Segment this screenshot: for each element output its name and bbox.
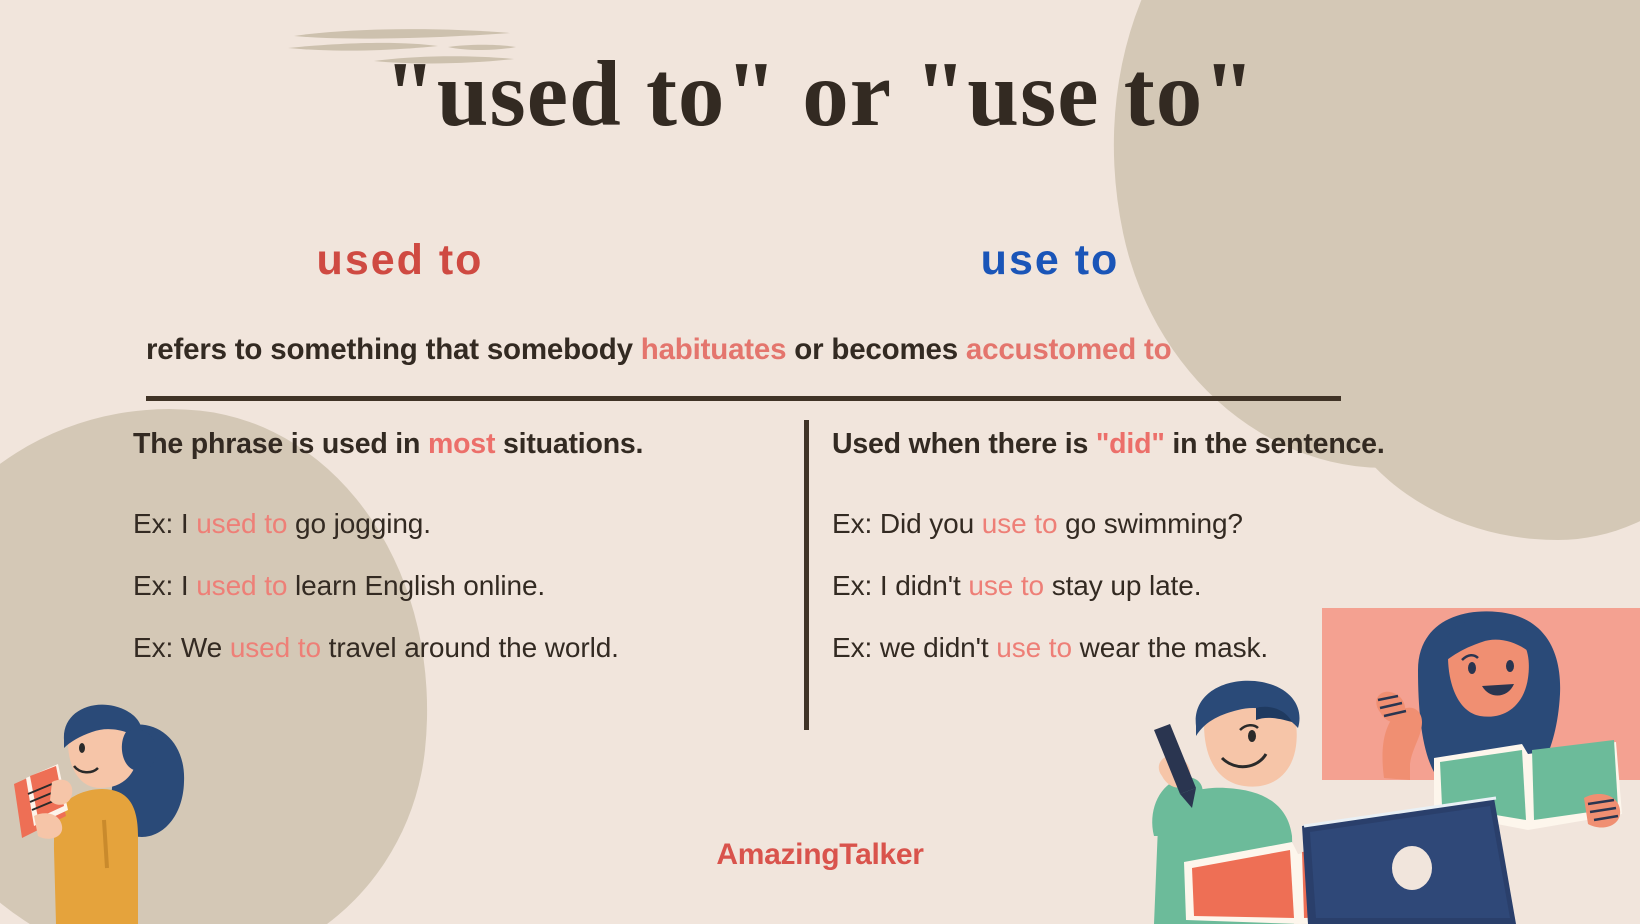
boy-with-laptop-icon: [1096, 676, 1516, 924]
column-header-use-to: use to: [830, 236, 1270, 285]
example-right-3-highlight: use to: [996, 632, 1072, 663]
brand-footer: AmazingTalker: [0, 838, 1640, 872]
example-left-2-prefix: Ex: I: [133, 570, 196, 601]
example-right-1-suffix: go swimming?: [1057, 508, 1242, 539]
horizontal-divider: [146, 396, 1341, 401]
definition-highlight-habituates: habituates: [641, 333, 787, 366]
rule-left-part-1: The phrase is used in: [133, 428, 428, 460]
example-left-2-highlight: used to: [196, 570, 287, 601]
rule-left: The phrase is used in most situations.: [133, 428, 783, 461]
rule-left-highlight: most: [428, 428, 495, 460]
example-left-2-suffix: learn English online.: [287, 570, 545, 601]
example-right-2-prefix: Ex: I didn't: [832, 570, 968, 601]
example-left-1-highlight: used to: [196, 508, 287, 539]
example-right-3: Ex: we didn't use to wear the mask.: [832, 629, 1522, 667]
girl-reading-icon: [8, 690, 208, 924]
rule-right-highlight: "did": [1096, 428, 1165, 460]
example-right-2-highlight: use to: [968, 570, 1044, 601]
rule-right-part-1: Used when there is: [832, 428, 1096, 460]
infographic-canvas: "used to" or "use to" used to use to ref…: [0, 0, 1640, 924]
rule-right-part-2: in the sentence.: [1165, 428, 1385, 460]
column-header-used-to: used to: [180, 236, 620, 285]
example-left-3-highlight: used to: [230, 632, 321, 663]
example-right-1: Ex: Did you use to go swimming?: [832, 505, 1522, 543]
rule-left-part-2: situations.: [495, 428, 643, 460]
example-left-2: Ex: I used to learn English online.: [133, 567, 783, 605]
example-right-2: Ex: I didn't use to stay up late.: [832, 567, 1522, 605]
example-right-1-prefix: Ex: Did you: [832, 508, 982, 539]
example-left-3: Ex: We used to travel around the world.: [133, 629, 653, 667]
vertical-divider: [804, 420, 809, 730]
example-right-2-suffix: stay up late.: [1044, 570, 1201, 601]
definition-highlight-accustomed: accustomed to: [966, 333, 1172, 366]
rule-right: Used when there is "did" in the sentence…: [832, 428, 1522, 461]
example-right-3-suffix: wear the mask.: [1072, 632, 1268, 663]
example-left-1-suffix: go jogging.: [287, 508, 431, 539]
column-used-to: The phrase is used in most situations. E…: [133, 428, 783, 690]
column-use-to: Used when there is "did" in the sentence…: [832, 428, 1522, 690]
example-right-1-highlight: use to: [982, 508, 1058, 539]
example-right-3-prefix: Ex: we didn't: [832, 632, 996, 663]
example-left-3-suffix: travel around the world.: [321, 632, 619, 663]
page-title: "used to" or "use to": [0, 46, 1640, 144]
definition-line: refers to something that somebody habitu…: [146, 333, 1346, 367]
definition-part-1: refers to something that somebody: [146, 333, 641, 366]
definition-part-2: or becomes: [786, 333, 966, 366]
example-left-1: Ex: I used to go jogging.: [133, 505, 783, 543]
example-left-3-prefix: Ex: We: [133, 632, 230, 663]
example-left-1-prefix: Ex: I: [133, 508, 196, 539]
